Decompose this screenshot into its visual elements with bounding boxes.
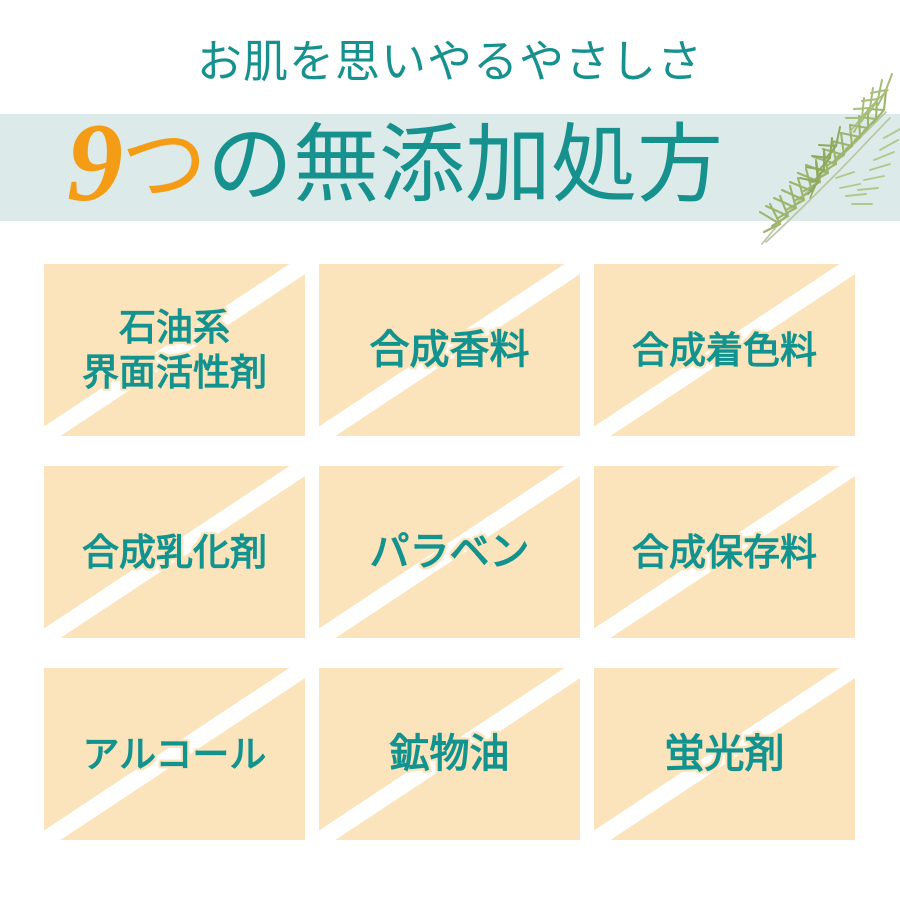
card-synthetic-colorant: 合成着色料 <box>594 264 855 436</box>
infographic-poster: お肌を思いやるやさしさ 9つの無添加処方 <box>0 0 900 900</box>
card-label: 石油系 界面活性剤 <box>82 305 267 395</box>
page-title: 9つの無添加処方 <box>0 104 900 224</box>
card-synthetic-emulsifier: 合成乳化剤 <box>44 466 305 638</box>
card-fluorescent-agent: 蛍光剤 <box>594 668 855 840</box>
card-label: パラベン <box>370 529 530 576</box>
card-label: 合成乳化剤 <box>82 529 267 576</box>
card-synthetic-fragrance: 合成香料 <box>319 264 580 436</box>
additive-free-card-grid: 石油系 界面活性剤 合成香料 合成着色料 合成乳化剤 パラベン 合成保存料 アル… <box>44 264 856 844</box>
title-main-text: の無添加処方 <box>207 117 723 213</box>
card-label: 蛍光剤 <box>665 731 785 778</box>
card-paraben: パラベン <box>319 466 580 638</box>
card-synthetic-preservative: 合成保存料 <box>594 466 855 638</box>
title-number: 9 <box>67 101 121 225</box>
title-counter: つ <box>121 117 207 213</box>
tagline: お肌を思いやるやさしさ <box>0 34 900 90</box>
card-label: 合成香料 <box>370 327 530 374</box>
card-label: アルコール <box>83 731 267 778</box>
card-label: 合成保存料 <box>632 529 817 576</box>
card-label: 合成着色料 <box>632 327 817 374</box>
header: お肌を思いやるやさしさ 9つの無添加処方 <box>0 0 900 232</box>
card-petroleum-surfactant: 石油系 界面活性剤 <box>44 264 305 436</box>
card-label: 鉱物油 <box>390 731 510 778</box>
card-mineral-oil: 鉱物油 <box>319 668 580 840</box>
card-alcohol: アルコール <box>44 668 305 840</box>
